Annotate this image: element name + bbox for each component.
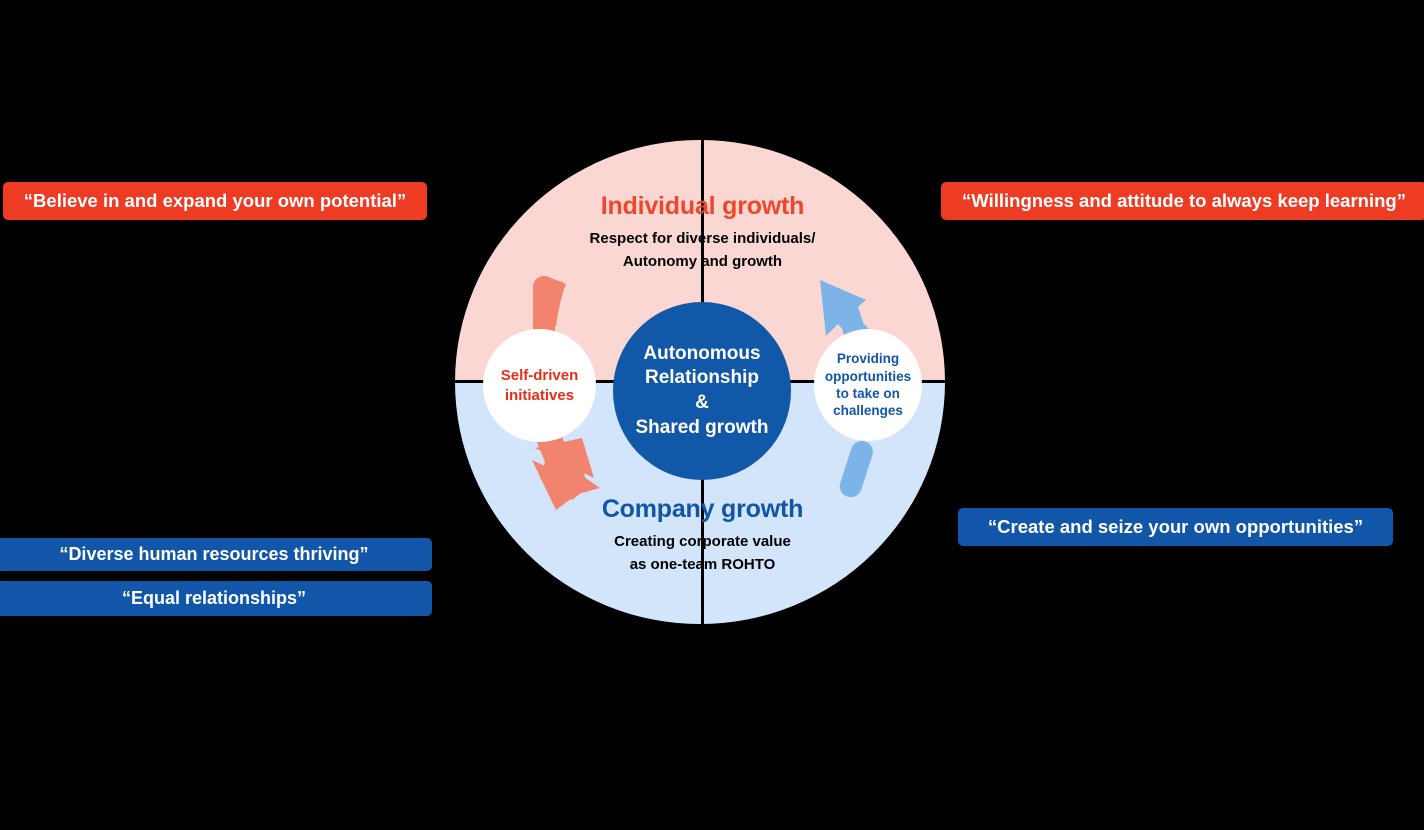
center-core-line-3: & <box>635 391 768 416</box>
providing-line-1: Providing <box>825 350 911 367</box>
center-core-line-1: Autonomous <box>635 342 768 367</box>
company-growth-subtitle: Creating corporate value as one-team ROH… <box>530 530 875 577</box>
providing-opportunities-bubble: Providing opportunities to take on chall… <box>814 329 922 441</box>
center-core-label: Autonomous Relationship & Shared growth <box>629 342 774 441</box>
self-driven-initiatives-bubble: Self-driven initiatives <box>483 329 596 442</box>
company-growth-text-block: Company growth Creating corporate value … <box>530 493 875 577</box>
callout-believe-potential: “Believe in and expand your own potentia… <box>3 182 427 220</box>
individual-growth-text-block: Individual growth Respect for diverse in… <box>530 190 875 274</box>
company-growth-title: Company growth <box>530 493 875 525</box>
callout-create-seize-opportunities: “Create and seize your own opportunities… <box>958 508 1393 546</box>
individual-growth-subtitle-line-1: Respect for diverse individuals/ <box>530 227 875 250</box>
individual-growth-subtitle: Respect for diverse individuals/ Autonom… <box>530 227 875 274</box>
company-growth-subtitle-line-2: as one-team ROHTO <box>530 553 875 576</box>
individual-growth-subtitle-line-2: Autonomy and growth <box>530 250 875 273</box>
self-driven-initiatives-label: Self-driven initiatives <box>501 366 579 405</box>
center-core-line-2: Relationship <box>635 366 768 391</box>
providing-line-4: challenges <box>825 402 911 419</box>
individual-growth-title: Individual growth <box>530 190 875 222</box>
diagram-canvas: Individual growth Respect for diverse in… <box>0 0 1424 830</box>
center-core-line-4: Shared growth <box>635 416 768 441</box>
callout-diverse-human-resources: “Diverse human resources thriving” <box>0 538 432 571</box>
providing-line-2: opportunities <box>825 368 911 385</box>
callout-willingness-learning: “Willingness and attitude to always keep… <box>941 182 1424 220</box>
self-driven-line-1: Self-driven <box>501 366 579 386</box>
callout-equal-relationships: “Equal relationships” <box>0 581 432 616</box>
providing-opportunities-label: Providing opportunities to take on chall… <box>825 350 911 419</box>
company-growth-subtitle-line-1: Creating corporate value <box>530 530 875 553</box>
self-driven-line-2: initiatives <box>501 386 579 406</box>
providing-line-3: to take on <box>825 385 911 402</box>
center-core-circle: Autonomous Relationship & Shared growth <box>613 302 791 480</box>
